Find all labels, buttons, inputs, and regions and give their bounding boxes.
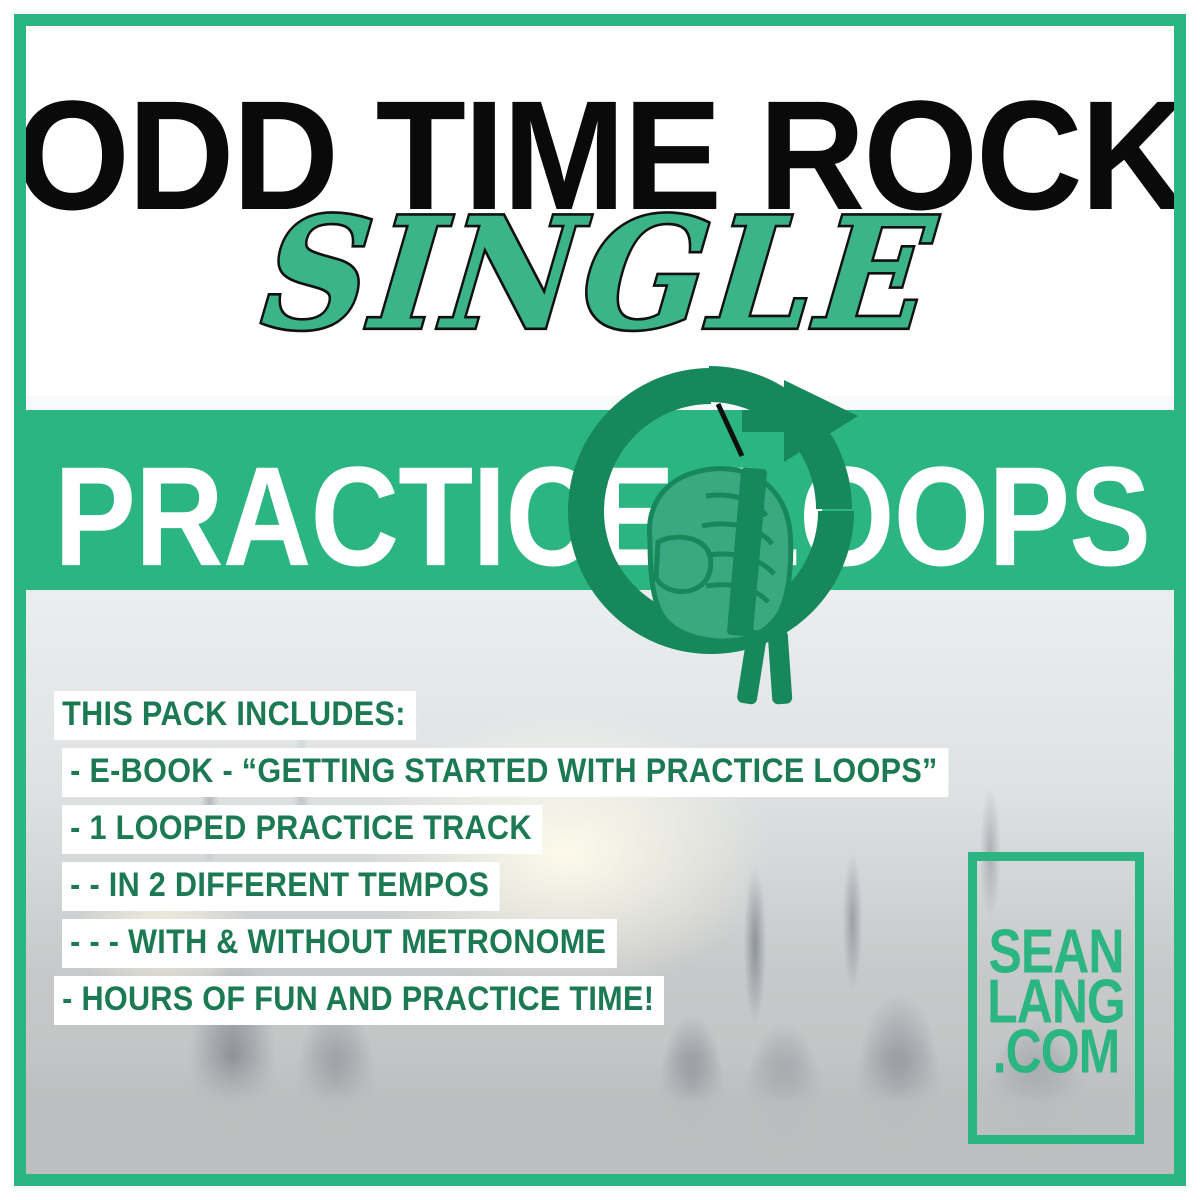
list-item: - E-BOOK - “GETTING STARTED WITH PRACTIC… — [62, 748, 948, 797]
poster-frame: ODD TIME ROCK SINGLE PRACTICE LOOPS — [14, 14, 1186, 1186]
brand-logo-box[interactable]: SEAN LANG .COM — [968, 852, 1144, 1144]
includes-list: THIS PACK INCLUDES: - E-BOOK - “GETTING … — [54, 694, 931, 1022]
list-item: - HOURS OF FUN AND PRACTICE TIME! — [54, 976, 664, 1025]
green-band — [26, 410, 1174, 590]
list-item: - - IN 2 DIFFERENT TEMPOS — [62, 862, 499, 911]
includes-heading: THIS PACK INCLUDES: — [54, 691, 416, 740]
hero-white-panel — [26, 26, 1174, 396]
brand-line-dotcom: .COM — [993, 1020, 1120, 1083]
list-item: - 1 LOOPED PRACTICE TRACK — [62, 805, 542, 854]
poster-artwork: ODD TIME ROCK SINGLE PRACTICE LOOPS — [0, 0, 1200, 1200]
list-item: - - - WITH & WITHOUT METRONOME — [62, 919, 616, 968]
